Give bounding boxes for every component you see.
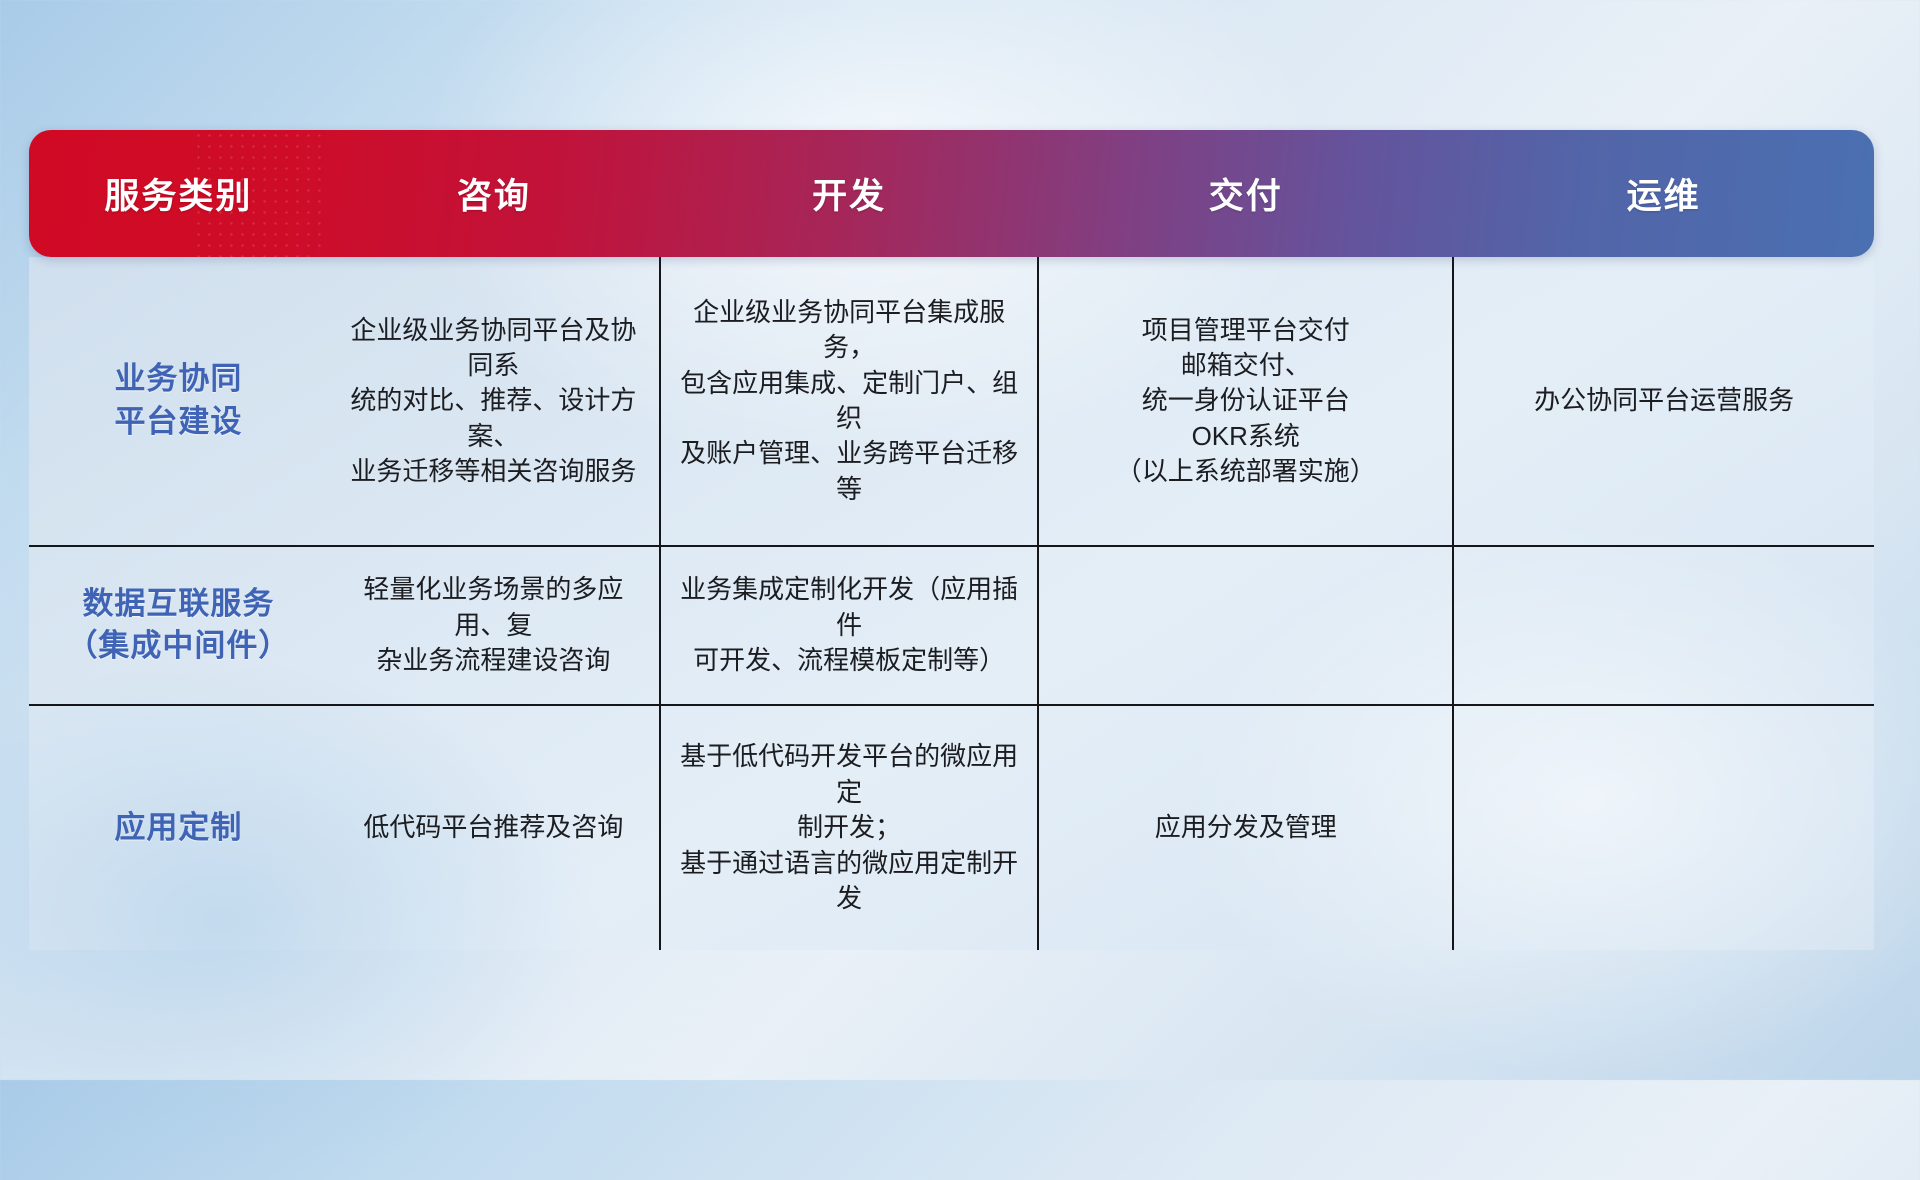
cell-row2-consulting: 轻量化业务场景的多应用、复 杂业务流程建设咨询 bbox=[328, 546, 660, 705]
column-header-category-label: 服务类别 bbox=[29, 168, 328, 219]
row-label-business-collaboration: 业务协同 平台建设 bbox=[29, 257, 328, 546]
column-header-development: 开发 bbox=[660, 130, 1038, 257]
column-header-operations-label: 运维 bbox=[1453, 168, 1874, 219]
cell-row2-operations bbox=[1453, 546, 1874, 705]
column-header-delivery-label: 交付 bbox=[1038, 168, 1453, 219]
cell-row3-operations bbox=[1453, 705, 1874, 950]
cell-row2-delivery bbox=[1038, 546, 1453, 705]
cell-row3-development: 基于低代码开发平台的微应用定 制开发； 基于通过语言的微应用定制开发 bbox=[660, 705, 1038, 950]
cell-row3-delivery: 应用分发及管理 bbox=[1038, 705, 1453, 950]
column-header-category: 服务类别 bbox=[29, 130, 328, 257]
column-header-delivery: 交付 bbox=[1038, 130, 1453, 257]
cell-row1-development: 企业级业务协同平台集成服务， 包含应用集成、定制门户、组织 及账户管理、业务跨平… bbox=[660, 257, 1038, 546]
row-label-data-interconnect: 数据互联服务 （集成中间件） bbox=[29, 546, 328, 705]
column-header-development-label: 开发 bbox=[660, 168, 1038, 219]
cell-row2-development: 业务集成定制化开发（应用插件 可开发、流程模板定制等） bbox=[660, 546, 1038, 705]
table-body: 业务协同 平台建设 企业级业务协同平台及协同系 统的对比、推荐、设计方案、 业务… bbox=[29, 257, 1874, 950]
table-row: 数据互联服务 （集成中间件） 轻量化业务场景的多应用、复 杂业务流程建设咨询 业… bbox=[29, 546, 1874, 705]
table-row: 应用定制 低代码平台推荐及咨询 基于低代码开发平台的微应用定 制开发； 基于通过… bbox=[29, 705, 1874, 950]
table-header: 服务类别 咨询 开发 交付 运维 bbox=[29, 130, 1874, 257]
cell-row1-delivery: 项目管理平台交付 邮箱交付、 统一身份认证平台 OKR系统 （以上系统部署实施） bbox=[1038, 257, 1453, 546]
column-header-operations: 运维 bbox=[1453, 130, 1874, 257]
cell-row1-operations: 办公协同平台运营服务 bbox=[1453, 257, 1874, 546]
header-row: 服务类别 咨询 开发 交付 运维 bbox=[29, 130, 1874, 257]
cell-row1-consulting: 企业级业务协同平台及协同系 统的对比、推荐、设计方案、 业务迁移等相关咨询服务 bbox=[328, 257, 660, 546]
row-label-application-customization: 应用定制 bbox=[29, 705, 328, 950]
column-header-consulting: 咨询 bbox=[328, 130, 660, 257]
cell-row3-consulting: 低代码平台推荐及咨询 bbox=[328, 705, 660, 950]
table-row: 业务协同 平台建设 企业级业务协同平台及协同系 统的对比、推荐、设计方案、 业务… bbox=[29, 257, 1874, 546]
service-matrix-table: 服务类别 咨询 开发 交付 运维 业务协同 平台建设 bbox=[29, 130, 1874, 950]
column-header-consulting-label: 咨询 bbox=[328, 168, 660, 219]
